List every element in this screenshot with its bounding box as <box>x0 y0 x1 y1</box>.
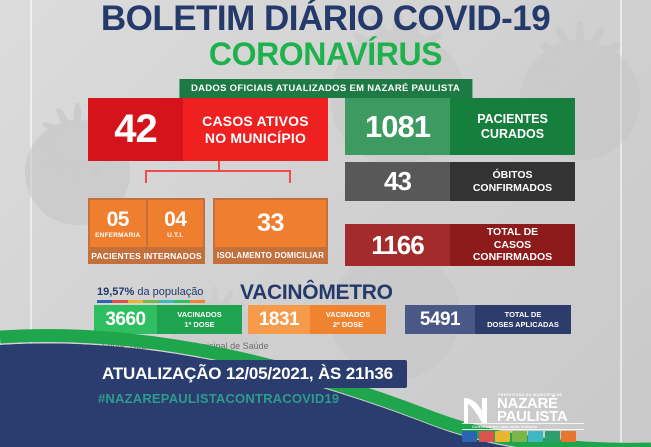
hospitalized-footer: PACIENTES INTERNADOS <box>88 247 205 264</box>
stat-recovered: 1081 PACIENTES CURADOS <box>345 98 575 155</box>
deaths-label-line1: ÓBITOS <box>473 169 552 181</box>
logo-icon-tile-5 <box>545 431 560 442</box>
home-isolation-cells: 33 <box>213 198 328 247</box>
virus-spike <box>576 86 584 112</box>
hospitalized-ward-cell: 05 ENFERMARIA <box>90 200 146 247</box>
logo-n-mark-icon <box>462 395 492 425</box>
percent-bar-segment-3 <box>143 300 158 303</box>
bracket-connector <box>145 161 291 183</box>
percent-bar-segment-4 <box>159 300 174 303</box>
virus-spike <box>74 160 81 183</box>
logo-icon-tile-2 <box>495 431 510 442</box>
stat-hospitalized-group: 05 ENFERMARIA 04 U.T.I. PACIENTES INTERN… <box>88 198 205 264</box>
population-percent: 19,57% da população <box>97 286 203 298</box>
population-percent-underline <box>97 300 205 303</box>
bracket-drop-left <box>145 170 147 183</box>
home-isolation-footer: ISOLAMENTO DOMICILIAR <box>213 247 328 264</box>
icu-value: 04 <box>164 209 186 230</box>
ward-label: ENFERMARIA <box>95 232 140 239</box>
active-cases-label: CASOS ATIVOS NO MUNICÍPIO <box>183 98 328 161</box>
percent-bar-segment-6 <box>190 300 205 303</box>
deaths-value: 43 <box>345 162 450 201</box>
stat-home-isolation-group: 33 ISOLAMENTO DOMICILIAR <box>213 198 328 264</box>
virus-spike <box>38 139 61 146</box>
bracket-bar <box>145 170 291 172</box>
stat-deaths: 43 ÓBITOS CONFIRMADOS <box>345 162 575 201</box>
update-timestamp: ATUALIZAÇÃO 12/05/2021, ÀS 21h36 <box>88 360 407 388</box>
recovered-value: 1081 <box>345 98 450 155</box>
logo-icon-tile-6 <box>561 431 576 442</box>
recovered-label-line1: PACIENTES <box>477 112 548 127</box>
page-subtitle: CORONAVÍRUS <box>0 34 651 74</box>
active-cases-label-line2: NO MUNICÍPIO <box>202 130 309 147</box>
percent-bar-segment-1 <box>112 300 127 303</box>
active-cases-label-line1: CASOS ATIVOS <box>202 113 309 130</box>
recovered-label: PACIENTES CURADOS <box>450 98 575 155</box>
total-confirmed-label-line1: TOTAL DE <box>456 226 569 238</box>
home-isolation-value: 33 <box>257 209 284 238</box>
total-confirmed-value: 1166 <box>345 224 450 266</box>
hospitalized-icu-cell: 04 U.T.I. <box>148 200 204 247</box>
logo-icon-tile-4 <box>528 431 543 442</box>
population-percent-value: 19,57% <box>97 286 134 298</box>
population-percent-text: da população <box>134 286 203 298</box>
logo-icon-tile-0 <box>462 431 477 442</box>
logo-icon-tile-1 <box>479 431 494 442</box>
infographic-canvas: BOLETIM DIÁRIO COVID-19 CORONAVÍRUS DADO… <box>0 0 651 447</box>
hospitalized-cells: 05 ENFERMARIA 04 U.T.I. <box>88 198 205 247</box>
deaths-label: ÓBITOS CONFIRMADOS <box>450 162 575 201</box>
virus-spike <box>74 103 81 126</box>
percent-bar-segment-2 <box>128 300 143 303</box>
official-data-banner: DADOS OFICIAIS ATUALIZADOS EM NAZARÉ PAU… <box>179 79 472 98</box>
total-confirmed-label: TOTAL DE CASOS CONFIRMADOS <box>450 224 575 266</box>
logo-rule-bottom <box>462 429 584 430</box>
percent-bar-segment-0 <box>97 300 112 303</box>
total-confirmed-label-line2: CASOS CONFIRMADOS <box>456 239 569 264</box>
logo-icon-tile-3 <box>512 431 527 442</box>
stat-active-cases: 42 CASOS ATIVOS NO MUNICÍPIO <box>88 98 328 161</box>
percent-bar-segment-5 <box>174 300 189 303</box>
logo-department-icons <box>462 431 576 442</box>
virus-spike <box>416 274 445 283</box>
virus-spike <box>212 286 218 306</box>
icu-label: U.T.I. <box>167 232 183 239</box>
campaign-hashtag: #NAZAREPAULISTACONTRACOVID19 <box>98 391 339 406</box>
recovered-label-line2: CURADOS <box>477 127 548 142</box>
stat-total-confirmed: 1166 TOTAL DE CASOS CONFIRMADOS <box>345 224 575 266</box>
city-hall-logo: PREFEITURA DO MUNICÍPIO DE NAZARÉ PAULIS… <box>462 393 584 441</box>
vaccinometer-title: VACINÔMETRO <box>240 281 393 305</box>
ward-value: 05 <box>107 209 129 230</box>
active-cases-value: 42 <box>88 98 183 161</box>
home-isolation-cell: 33 <box>215 200 326 247</box>
deaths-label-line2: CONFIRMADOS <box>473 182 552 194</box>
logo-city-line2: PAULISTA <box>497 410 567 423</box>
bracket-drop-right <box>289 170 291 183</box>
